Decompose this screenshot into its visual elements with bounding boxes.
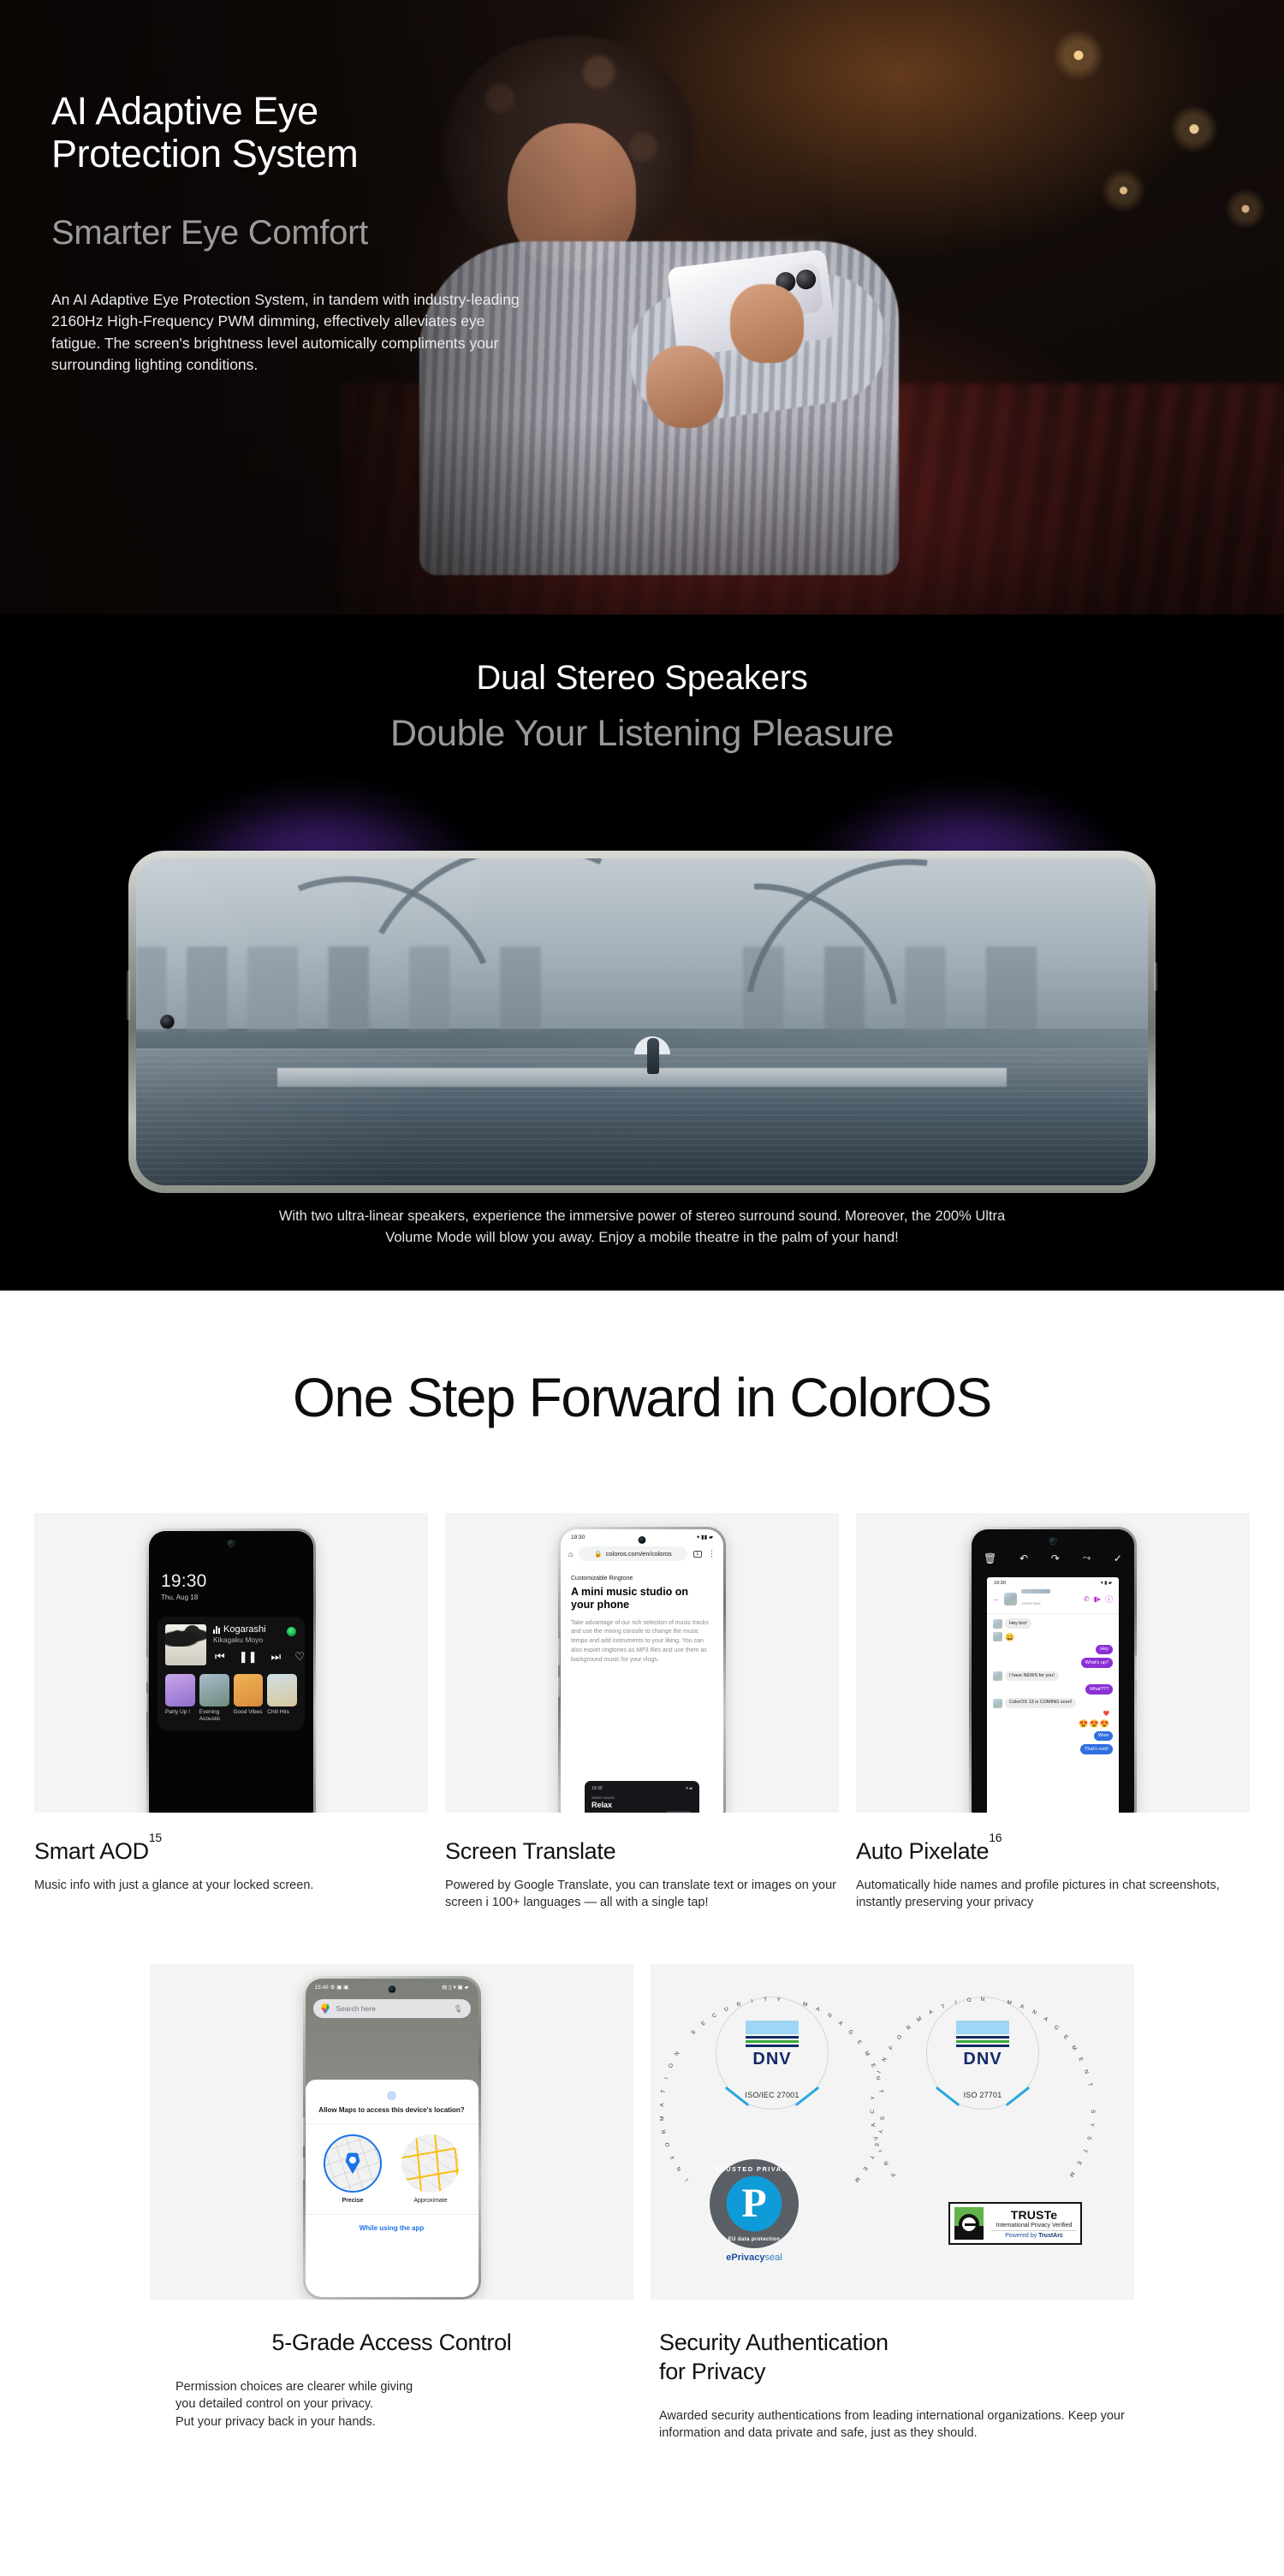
aod-track-title: Kogarashi bbox=[223, 1624, 266, 1635]
dnv-flag-icon bbox=[956, 2021, 1009, 2047]
chat-header: ← Active Now ✆ ▮▸ ⓘ bbox=[987, 1587, 1119, 1614]
speakers-heading-block: Dual Stereo Speakers Double Your Listeni… bbox=[0, 614, 1284, 755]
camera-punch-hole-icon bbox=[639, 1536, 646, 1544]
product-landing-page: AI Adaptive EyeProtection System Smarter… bbox=[0, 0, 1284, 2502]
divider bbox=[306, 2123, 479, 2124]
speakers-subtitle: Double Your Listening Pleasure bbox=[0, 713, 1284, 755]
feature-cards-row-2: 15:48 ⚙ ▣ ▣ ▤ ▯ ▾ ▣ ▰ Search here 🎙 ◎ Al… bbox=[0, 1964, 1284, 2442]
phone-volume-button[interactable] bbox=[302, 2117, 305, 2146]
status-right-icons: ▤ ▯ ▾ ▣ ▰ bbox=[442, 1984, 468, 1991]
card-title: Security Authenticationfor Privacy bbox=[651, 2329, 1134, 2387]
pixelated-avatar bbox=[993, 1699, 1002, 1708]
redo-icon[interactable]: ↷ bbox=[1051, 1552, 1060, 1564]
home-icon[interactable]: ⌂ bbox=[568, 1550, 573, 1558]
generate-button[interactable]: Generate bbox=[665, 1811, 692, 1813]
truste-subtitle: International Privacy Verified bbox=[991, 2223, 1077, 2229]
chat-row: 😀 bbox=[993, 1632, 1113, 1641]
screen-translate-screenshot: 19:30 ▾ ▮▮ ▰ ⌂ 🔒 coloros.com/en/coloros … bbox=[445, 1513, 839, 1813]
chat-row: What??? bbox=[993, 1684, 1113, 1695]
chat-status-bar: 19:30 ▾ ▮ ▰ bbox=[987, 1577, 1119, 1587]
card-title-superscript: 15 bbox=[149, 1831, 162, 1844]
playlist-thumbnail bbox=[267, 1674, 297, 1706]
embedded-status-bar: 19:30 ▾ ▰ bbox=[591, 1786, 693, 1791]
playlist-label: Chill Hits bbox=[267, 1709, 297, 1716]
truste-powered-by: Powered by TrustArc bbox=[991, 2230, 1077, 2239]
pixelated-contact-name bbox=[1021, 1589, 1050, 1594]
landscape-phone-device bbox=[128, 851, 1156, 1193]
aod-phone-frame: 19:30 Thu, Aug 18 bbox=[146, 1528, 316, 1813]
card-description: Permission choices are clearer while giv… bbox=[150, 2378, 633, 2431]
aod-playlist-tiles[interactable]: Party Up ! Evening Acoustic Good Vibes bbox=[165, 1674, 297, 1723]
card-description: Powered by Google Translate, you can tra… bbox=[445, 1877, 839, 1911]
captured-chat-screenshot: 19:30 ▾ ▮ ▰ ← Active Now bbox=[987, 1577, 1119, 1813]
feature-card-smart-aod[interactable]: 19:30 Thu, Aug 18 bbox=[34, 1513, 428, 1911]
check-icon[interactable]: ✓ bbox=[1114, 1552, 1122, 1564]
aod-track-meta: Kogarashi Kikagaku Moyo ⏮ ❚❚ ⏭ ♡ bbox=[213, 1624, 297, 1665]
chat-phone-screen: 🗑 ↶ ↷ ⤳ ✓ 19:30 ▾ ▮ ▰ bbox=[972, 1529, 1134, 1813]
equalizer-icon bbox=[213, 1626, 220, 1634]
chat-bubble-incoming: I have NEWS for you! bbox=[1005, 1671, 1059, 1682]
permission-dialog: ◎ Allow Maps to access this device's loc… bbox=[306, 2080, 479, 2297]
browser-toolbar[interactable]: ⌂ 🔒 coloros.com/en/coloros 1 ⋮ bbox=[561, 1542, 723, 1567]
chat-bubble-outgoing: What's up? bbox=[1081, 1658, 1113, 1668]
microphone-icon[interactable]: 🎙 bbox=[454, 2004, 463, 2014]
option-precise[interactable]: Precise bbox=[321, 2134, 384, 2204]
seal-letter: P bbox=[710, 2187, 799, 2220]
grin-emoji-icon: 😀 bbox=[1005, 1634, 1014, 1641]
maps-phone-screen: 15:48 ⚙ ▣ ▣ ▤ ▯ ▾ ▣ ▰ Search here 🎙 ◎ Al… bbox=[306, 1979, 479, 2297]
cert-brand: DNV bbox=[716, 2050, 829, 2069]
approximate-map-preview bbox=[401, 2134, 460, 2193]
heart-eyes-emoji-icon: 😍 bbox=[1100, 1720, 1109, 1728]
contact-status: Active Now bbox=[1021, 1601, 1041, 1606]
playlist-label: Party Up ! bbox=[165, 1709, 195, 1716]
google-maps-icon bbox=[321, 2003, 330, 2015]
cert-dnv-iso-27701: PRIVACY INFORMATION MANAGEMENT SYSTEM DN… bbox=[926, 1997, 1039, 2110]
status-left: 15:48 ⚙ ▣ ▣ bbox=[315, 1984, 349, 1991]
powered-prefix: Powered by bbox=[1005, 2233, 1038, 2239]
truste-mark-icon bbox=[950, 2204, 990, 2243]
hero-title: AI Adaptive EyeProtection System bbox=[51, 90, 599, 176]
card-title-text: Smart AOD bbox=[34, 1838, 149, 1864]
card-description: Music info with just a glance at your lo… bbox=[34, 1877, 428, 1894]
map-pin-icon bbox=[344, 2152, 361, 2174]
status-time: 15:48 bbox=[315, 1985, 329, 1991]
undo-icon[interactable]: ↶ bbox=[1019, 1552, 1028, 1564]
chat-bubble-incoming: ColorOS 13 is COMING soon! bbox=[1005, 1698, 1076, 1708]
reaction-row: 😍 😍 😍 bbox=[993, 1720, 1113, 1728]
cert-truste: TRUSTe International Privacy Verified Po… bbox=[948, 2202, 1082, 2245]
seal-bottom-text: EU data protection bbox=[710, 2237, 799, 2242]
heart-emoji-icon: ❤️ bbox=[1103, 1712, 1109, 1717]
while-using-app-button[interactable]: While using the app bbox=[314, 2224, 470, 2232]
precise-map-preview bbox=[324, 2134, 382, 2193]
search-input[interactable]: Search here bbox=[336, 2004, 448, 2013]
url-text: coloros.com/en/coloros bbox=[606, 1550, 672, 1558]
chat-bubble-outgoing: What??? bbox=[1085, 1684, 1113, 1695]
embedded-label: Select sound : bbox=[591, 1795, 693, 1800]
hero-title-line-1: AI Adaptive Eye bbox=[51, 89, 318, 133]
heart-eyes-emoji-icon: 😍 bbox=[1090, 1720, 1099, 1728]
pixelated-avatar bbox=[993, 1671, 1002, 1681]
playlist-label: Evening Acoustic bbox=[199, 1709, 229, 1723]
screenshot-editor-toolbar[interactable]: 🗑 ↶ ↷ ⤳ ✓ bbox=[972, 1529, 1134, 1570]
chat-status-time: 19:30 bbox=[994, 1581, 1006, 1586]
phone-volume-button[interactable] bbox=[557, 1638, 560, 1665]
chat-status-indicators: ▾ ▮ ▰ bbox=[1101, 1581, 1112, 1586]
chat-row: What's up? bbox=[993, 1658, 1113, 1668]
card-title: Auto Pixelate16 bbox=[856, 1838, 1250, 1865]
camera-punch-hole-icon bbox=[1049, 1537, 1057, 1545]
playlist-tile[interactable]: Party Up ! bbox=[165, 1674, 195, 1723]
card-title-text: Auto Pixelate bbox=[856, 1838, 989, 1864]
card-title: Smart AOD15 bbox=[34, 1838, 428, 1865]
chat-row: That's cool! bbox=[993, 1744, 1113, 1754]
chat-bubble-outgoing: That's cool! bbox=[1080, 1744, 1113, 1754]
caption-rest: seal bbox=[765, 2253, 782, 2263]
divider bbox=[306, 2214, 479, 2215]
chat-bubble-outgoing: Hey bbox=[1096, 1645, 1113, 1655]
feature-card-auto-pixelate[interactable]: 🗑 ↶ ↷ ⤳ ✓ 19:30 ▾ ▮ ▰ bbox=[856, 1513, 1250, 1911]
phone-side-button[interactable] bbox=[302, 2158, 305, 2180]
card-description: Awarded security authentications from le… bbox=[651, 2407, 1134, 2442]
auto-pixelate-screenshot: 🗑 ↶ ↷ ⤳ ✓ 19:30 ▾ ▮ ▰ bbox=[856, 1513, 1250, 1813]
chat-row: Wow bbox=[993, 1731, 1113, 1742]
map-roads bbox=[401, 2134, 460, 2193]
feature-card-access-control[interactable]: 15:48 ⚙ ▣ ▣ ▤ ▯ ▾ ▣ ▰ Search here 🎙 ◎ Al… bbox=[150, 1964, 633, 2442]
chat-row: ColorOS 13 is COMING soon! bbox=[993, 1698, 1113, 1708]
phone-volume-button[interactable] bbox=[146, 1693, 148, 1712]
playlist-tile[interactable]: Good Vibes bbox=[234, 1674, 264, 1723]
permission-question: Allow Maps to access this device's locat… bbox=[314, 2106, 470, 2115]
album-art bbox=[165, 1624, 206, 1665]
phone-side-button[interactable] bbox=[127, 970, 130, 1020]
hero-body-text: An AI Adaptive Eye Protection System, in… bbox=[51, 289, 531, 377]
playlist-tile[interactable]: Evening Acoustic bbox=[199, 1674, 229, 1723]
playlist-thumbnail bbox=[165, 1674, 195, 1706]
more-options-icon[interactable]: ⋮ bbox=[708, 1549, 716, 1558]
dual-stereo-speakers-section: Dual Stereo Speakers Double Your Listeni… bbox=[0, 614, 1284, 1291]
embedded-title: Relax bbox=[591, 1801, 693, 1809]
call-icon[interactable]: ✆ bbox=[1084, 1595, 1090, 1603]
aod-artist-name: Kikagaku Moyo bbox=[213, 1635, 297, 1644]
eprivacy-caption: ePrivacyseal bbox=[704, 2253, 805, 2263]
chat-phone-frame: 🗑 ↶ ↷ ⤳ ✓ 19:30 ▾ ▮ ▰ bbox=[969, 1527, 1137, 1813]
chat-row: Hey bro! bbox=[993, 1618, 1113, 1629]
seal-top-text: TRUSTED PRIVACY bbox=[710, 2165, 799, 2173]
caption-bold: ePrivacy bbox=[726, 2253, 764, 2263]
maps-phone-frame: 15:48 ⚙ ▣ ▣ ▤ ▯ ▾ ▣ ▰ Search here 🎙 ◎ Al… bbox=[303, 1976, 481, 2300]
phone-side-button[interactable] bbox=[146, 1657, 148, 1683]
phone-side-button[interactable] bbox=[557, 1677, 560, 1697]
web-page-content: Customizable Ringtone A mini music studi… bbox=[561, 1567, 723, 1665]
speakers-title: Dual Stereo Speakers bbox=[0, 659, 1284, 697]
screen-glare-overlay bbox=[136, 858, 1148, 1185]
camera-punch-hole-icon bbox=[388, 1985, 395, 1993]
access-control-screenshot: 15:48 ⚙ ▣ ▣ ▤ ▯ ▾ ▣ ▰ Search here 🎙 ◎ Al… bbox=[150, 1964, 633, 2300]
browser-phone-frame: 19:30 ▾ ▮▮ ▰ ⌂ 🔒 coloros.com/en/coloros … bbox=[558, 1527, 726, 1813]
tab-count-badge[interactable]: 1 bbox=[693, 1551, 702, 1558]
phone-side-button[interactable] bbox=[1135, 1655, 1138, 1681]
camera-punch-hole-icon bbox=[228, 1540, 235, 1547]
card-description: Automatically hide names and profile pic… bbox=[856, 1877, 1250, 1911]
chat-message-list: Hey bro! 😀 Hey bbox=[987, 1614, 1119, 1759]
option-label: Precise bbox=[321, 2198, 384, 2204]
status-indicators: ▾ ▮▮ ▰ bbox=[697, 1534, 713, 1540]
hero-copy-block: AI Adaptive EyeProtection System Smarter… bbox=[51, 90, 599, 376]
trash-icon[interactable]: 🗑 bbox=[984, 1552, 996, 1564]
avatar bbox=[1004, 1593, 1017, 1606]
playlist-thumbnail bbox=[199, 1674, 229, 1706]
previous-track-icon[interactable]: ⏮ bbox=[215, 1651, 225, 1662]
eprivacy-seal-badge: TRUSTED PRIVACY P EU data protection bbox=[710, 2159, 799, 2248]
aod-clock-block: 19:30 Thu, Aug 18 bbox=[161, 1571, 207, 1601]
card-title-text: Screen Translate bbox=[445, 1838, 615, 1864]
aod-track-row: Kogarashi bbox=[213, 1624, 297, 1635]
aod-date: Thu, Aug 18 bbox=[161, 1594, 207, 1601]
security-certificates-panel: INFORMATION SECURITY MANAGEMENT SYSTEM D… bbox=[651, 1964, 1134, 2300]
card-title-superscript: 16 bbox=[989, 1831, 1002, 1844]
back-arrow-icon[interactable]: ← bbox=[993, 1595, 1000, 1603]
chat-row: Hey bbox=[993, 1645, 1113, 1655]
desc-line-1: Permission choices are clearer while giv… bbox=[175, 2378, 633, 2396]
aod-music-widget[interactable]: Kogarashi Kikagaku Moyo ⏮ ❚❚ ⏭ ♡ bbox=[158, 1617, 305, 1730]
pixelated-avatar bbox=[993, 1632, 1002, 1641]
cert-standard: ISO 27701 bbox=[926, 2091, 1039, 2099]
favorite-heart-icon[interactable]: ♡ bbox=[294, 1651, 305, 1662]
embedded-app-preview: 19:30 ▾ ▰ Select sound : Relax Generate bbox=[585, 1781, 699, 1813]
pause-icon[interactable]: ❚❚ bbox=[239, 1651, 258, 1662]
hero-subtitle: Smarter Eye Comfort bbox=[51, 214, 599, 252]
coloros-section-title: One Step Forward in ColorOS bbox=[0, 1366, 1284, 1429]
truste-text-block: TRUSTe International Privacy Verified Po… bbox=[990, 2204, 1080, 2243]
heart-eyes-emoji-icon: 😍 bbox=[1079, 1720, 1088, 1728]
page-headline: A mini music studio on your phone bbox=[571, 1586, 713, 1612]
permission-options[interactable]: Precise Approximate bbox=[314, 2134, 470, 2204]
card-title: Screen Translate bbox=[445, 1838, 839, 1865]
aod-playback-controls[interactable]: ⏮ ❚❚ ⏭ ♡ bbox=[213, 1651, 297, 1662]
aod-phone-screen: 19:30 Thu, Aug 18 bbox=[149, 1531, 313, 1813]
status-time: 19:30 bbox=[571, 1534, 585, 1540]
contact-name-block: Active Now bbox=[1021, 1589, 1079, 1609]
coloros-section: One Step Forward in ColorOS 19:30 Thu, A… bbox=[0, 1291, 1284, 2502]
next-track-icon[interactable]: ⏭ bbox=[271, 1651, 282, 1662]
cert-brand: DNV bbox=[926, 2050, 1039, 2069]
lock-icon: 🔒 bbox=[594, 1550, 602, 1558]
info-icon[interactable]: ⓘ bbox=[1105, 1594, 1113, 1605]
aod-time: 19:30 bbox=[161, 1571, 207, 1592]
front-camera-punch-hole bbox=[160, 1015, 175, 1030]
embedded-indicators: ▾ ▰ bbox=[686, 1786, 693, 1791]
playlist-tile[interactable]: Chill Hits bbox=[267, 1674, 297, 1723]
video-call-icon[interactable]: ▮▸ bbox=[1094, 1595, 1101, 1603]
certificates-grid: INFORMATION SECURITY MANAGEMENT SYSTEM D… bbox=[651, 1964, 1134, 2300]
page-kicker: Customizable Ringtone bbox=[571, 1576, 713, 1582]
cert-dnv-iso-27001: INFORMATION SECURITY MANAGEMENT SYSTEM D… bbox=[716, 1997, 829, 2110]
share-icon[interactable]: ⤳ bbox=[1083, 1552, 1091, 1564]
aod-now-playing: Kogarashi Kikagaku Moyo ⏮ ❚❚ ⏭ ♡ bbox=[165, 1624, 297, 1665]
hero-title-line-2: Protection System bbox=[51, 132, 358, 175]
feature-cards-row-1: 19:30 Thu, Aug 18 bbox=[0, 1513, 1284, 1911]
landscape-phone-screen bbox=[136, 858, 1148, 1185]
browser-phone-screen: 19:30 ▾ ▮▮ ▰ ⌂ 🔒 coloros.com/en/coloros … bbox=[561, 1529, 723, 1813]
desc-line-2: you detailed control on your privacy. bbox=[175, 2395, 633, 2413]
embedded-time: 19:30 bbox=[591, 1786, 603, 1791]
card-title-line-1: Security Authentication bbox=[659, 2330, 889, 2355]
feature-card-screen-translate[interactable]: 19:30 ▾ ▮▮ ▰ ⌂ 🔒 coloros.com/en/coloros … bbox=[445, 1513, 839, 1911]
address-bar[interactable]: 🔒 coloros.com/en/coloros bbox=[579, 1546, 687, 1561]
chat-row: I have NEWS for you! bbox=[993, 1671, 1113, 1682]
chat-bubble-outgoing: Wow bbox=[1094, 1731, 1113, 1742]
location-pin-icon: ◎ bbox=[314, 2090, 470, 2100]
chat-bubble-incoming: Hey bro! bbox=[1005, 1618, 1031, 1629]
spotify-icon bbox=[287, 1627, 296, 1636]
dnv-flag-icon bbox=[746, 2021, 799, 2047]
feature-card-security-authentication[interactable]: INFORMATION SECURITY MANAGEMENT SYSTEM D… bbox=[651, 1964, 1134, 2442]
eye-protection-hero-section: AI Adaptive EyeProtection System Smarter… bbox=[0, 0, 1284, 614]
option-label: Approximate bbox=[399, 2198, 462, 2204]
cert-standard: ISO/IEC 27001 bbox=[716, 2091, 829, 2099]
cert-eprivacyseal: TRUSTED PRIVACY P EU data protection ePr… bbox=[704, 2159, 805, 2263]
card-title-line-2: for Privacy bbox=[659, 2359, 765, 2384]
card-title: 5-Grade Access Control bbox=[150, 2329, 633, 2358]
truste-title: TRUSTe bbox=[991, 2208, 1077, 2222]
reaction-row: ❤️ bbox=[993, 1712, 1113, 1717]
page-paragraph: Take advantage of our rich selection of … bbox=[571, 1619, 713, 1665]
option-approximate[interactable]: Approximate bbox=[399, 2134, 462, 2204]
desc-line-3: Put your privacy back in your hands. bbox=[175, 2413, 633, 2431]
speakers-body-text: With two ultra-linear speakers, experien… bbox=[257, 1206, 1027, 1249]
maps-search-bar[interactable]: Search here 🎙 bbox=[313, 1999, 471, 2018]
smart-aod-screenshot: 19:30 Thu, Aug 18 bbox=[34, 1513, 428, 1813]
pixelated-avatar bbox=[993, 1619, 1002, 1629]
powered-brand: TrustArc bbox=[1038, 2233, 1063, 2239]
playlist-thumbnail bbox=[234, 1674, 264, 1706]
phone-volume-button[interactable] bbox=[1154, 962, 1157, 991]
playlist-label: Good Vibes bbox=[234, 1709, 264, 1716]
